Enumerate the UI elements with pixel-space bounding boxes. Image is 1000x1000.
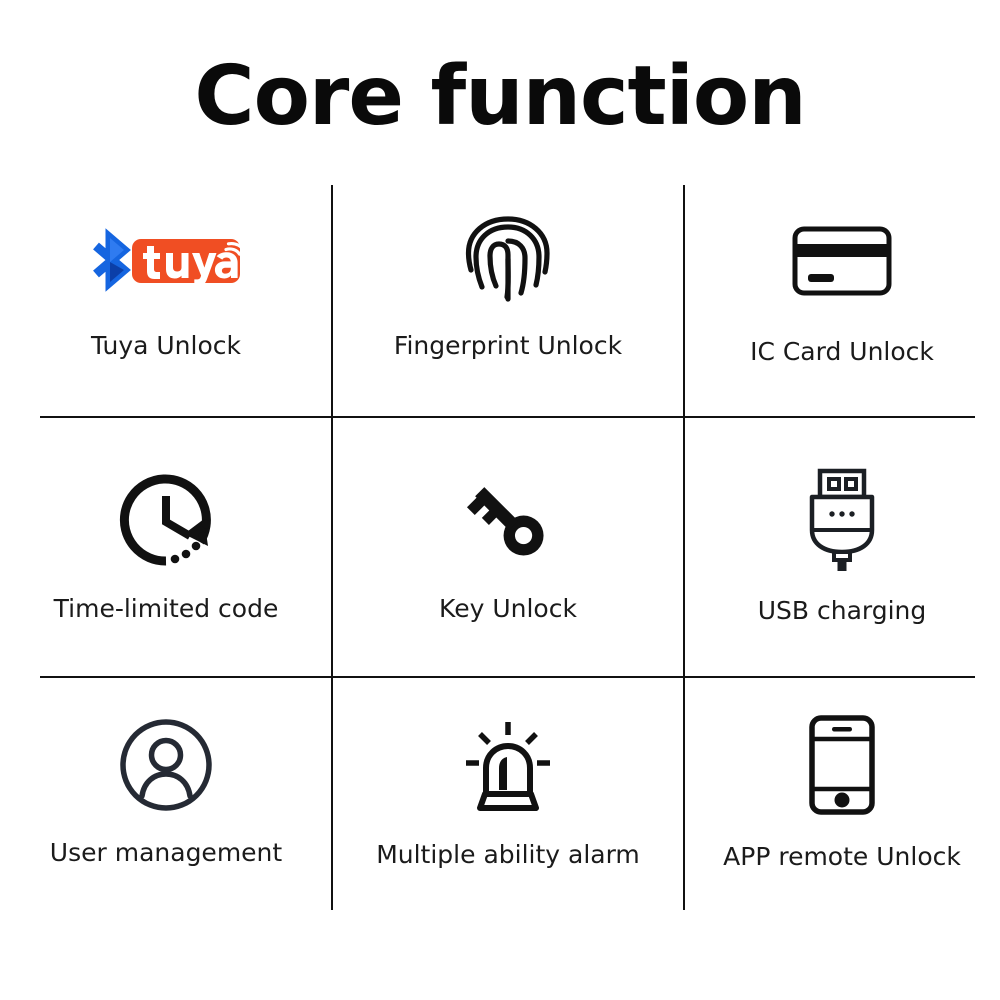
feature-cell-app-remote-unlock: APP remote Unlock [684,676,1000,910]
feature-label: Time-limited code [54,594,279,624]
feature-label: User management [50,838,282,868]
feature-label: USB charging [758,596,927,626]
feature-label: Key Unlock [439,594,577,624]
page-title: Core function [0,48,1000,146]
clock-arrow-icon [0,468,332,572]
user-circle-icon [0,712,332,818]
feature-label: APP remote Unlock [723,842,961,872]
feature-label: Tuya Unlock [91,331,241,361]
feature-cell-tuya-unlock: Tuya Unlock [0,185,332,416]
feature-label: IC Card Unlock [750,337,934,367]
feature-grid: Tuya Unlock Fingerprint Unlock [0,185,1000,910]
feature-label: Multiple ability alarm [376,840,640,870]
feature-cell-time-limited-code: Time-limited code [0,416,332,676]
key-icon [332,468,684,572]
feature-cell-ic-card-unlock: IC Card Unlock [684,185,1000,416]
usb-connector-icon [684,468,1000,572]
core-function-infographic: Core function [0,0,1000,1000]
smartphone-icon [684,712,1000,818]
bluetooth-icon [96,238,124,282]
feature-cell-multiple-ability-alarm: Multiple ability alarm [332,676,684,910]
feature-cell-user-management: User management [0,676,332,910]
feature-label: Fingerprint Unlock [394,331,622,361]
siren-alarm-icon [332,712,684,818]
tuya-logo-icon [0,215,332,307]
feature-cell-fingerprint-unlock: Fingerprint Unlock [332,185,684,416]
fingerprint-icon [332,215,684,307]
feature-cell-usb-charging: USB charging [684,416,1000,676]
feature-cell-key-unlock: Key Unlock [332,416,684,676]
ic-card-icon [684,215,1000,307]
